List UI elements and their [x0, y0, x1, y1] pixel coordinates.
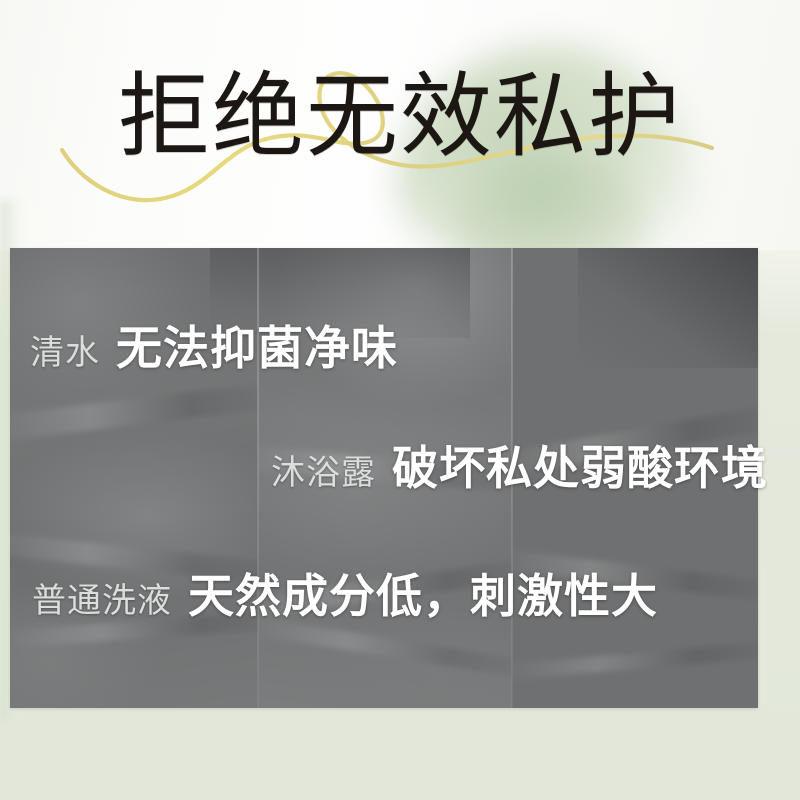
headline-section: 拒绝无效私护	[0, 52, 800, 188]
claim-label: 普通洗液	[32, 573, 172, 622]
claim-text: 天然成分低，刺激性大	[188, 560, 658, 626]
claim-label: 清水	[30, 325, 100, 374]
claim-row-ordinary-wash: 普通洗液 天然成分低，刺激性大	[32, 560, 658, 626]
claim-label: 沐浴露	[271, 445, 376, 494]
claim-text: 无法抑菌净味	[116, 312, 398, 378]
claim-text: 破坏私处弱酸环境	[392, 432, 768, 498]
page-title: 拒绝无效私护	[0, 52, 800, 182]
photo-shadow-corner	[578, 248, 758, 368]
claim-row-body-wash: 沐浴露 破坏私处弱酸环境	[271, 432, 768, 498]
promo-poster: 拒绝无效私护 清水 无法抑菌净味 沐浴露 破	[0, 0, 800, 800]
claim-row-water: 清水 无法抑菌净味	[30, 312, 398, 378]
